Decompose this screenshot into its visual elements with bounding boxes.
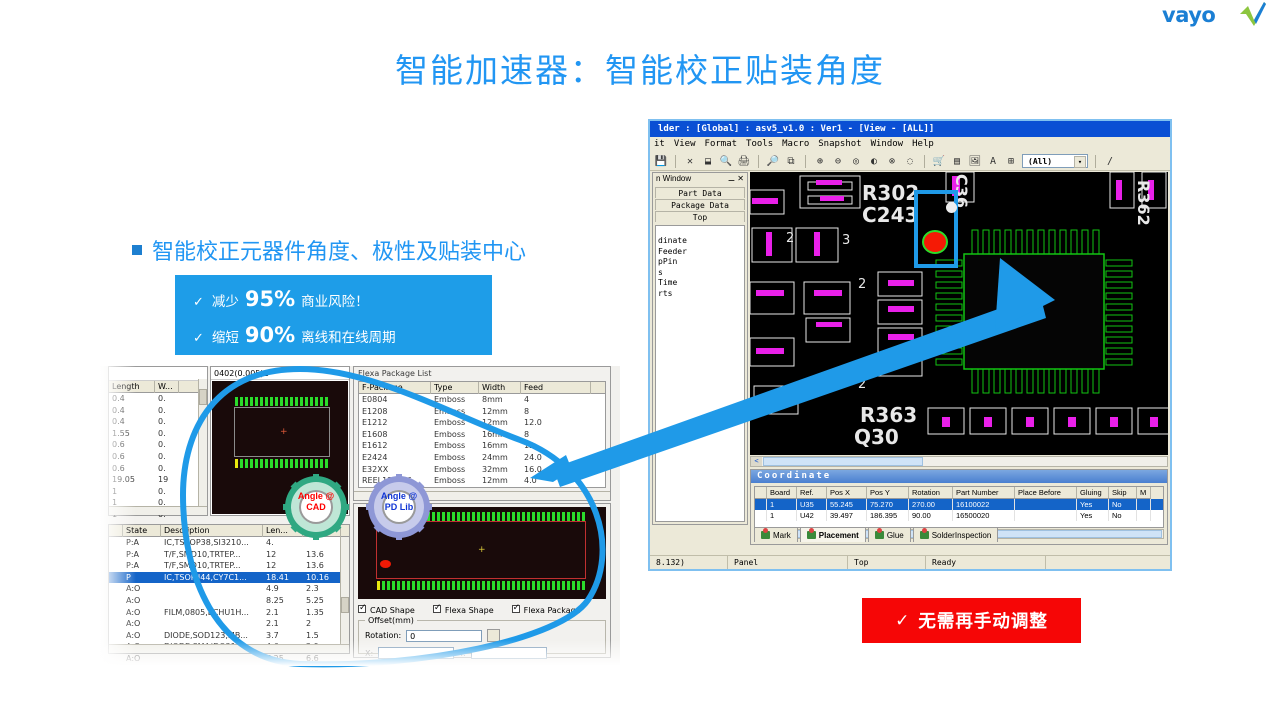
col-feed[interactable]: Feed — [521, 382, 591, 394]
check-icon: ✓ — [193, 331, 204, 346]
brand-name: vayo — [1162, 3, 1215, 27]
coordinate-col-header[interactable]: Ref. — [797, 487, 827, 499]
close-icon[interactable]: ✕ — [737, 174, 744, 183]
component-pin — [522, 512, 525, 521]
table-cell: Paper — [431, 487, 479, 488]
component-pin — [497, 512, 500, 521]
table-cell: 32mm — [479, 464, 521, 476]
tab-part-data[interactable]: Part Data — [655, 187, 745, 198]
component-pin — [235, 459, 238, 468]
table-cell: 90.00 — [909, 510, 953, 521]
shape-checkbox-row: CAD Shape Flexa Shape Flexa Package — [358, 603, 606, 617]
table-row[interactable]: A:O2.12 — [109, 618, 349, 630]
table-row[interactable]: E2424Emboss24mm24.0 — [359, 452, 605, 464]
table-cell: T/F,SMD10,TRTEP... — [161, 549, 263, 561]
table-cell: T/F,SMD10,TRTEP... — [161, 560, 263, 572]
coordinate-tabs: MarkPlacementGlueSolderInspection — [754, 527, 998, 542]
component-pin — [457, 512, 460, 521]
component-pin — [325, 397, 328, 406]
table-cell: 4.9 — [263, 583, 303, 595]
table-cell: 0. — [155, 463, 179, 475]
coordinate-col-header[interactable]: M — [1137, 487, 1151, 499]
zoom-out-icon[interactable]: ⊖ — [831, 154, 845, 168]
table-cell: 12.0 — [521, 417, 591, 429]
component-pin — [527, 581, 530, 590]
placement-icon[interactable]: 🛒 — [932, 154, 946, 168]
scroll-left-icon[interactable]: < — [751, 457, 762, 466]
coordinate-panel: Coordinate BoardRef.Pos XPos YRotationPa… — [750, 469, 1168, 545]
panel-title: n Window — [656, 173, 691, 185]
tree-item[interactable]: Time — [658, 278, 744, 289]
panel-buttons[interactable]: ⚊ ✕ — [728, 173, 744, 185]
stats-box: ✓ 减少 95% 商业风险！ ✓ 缩短 90% 离线和在线周期 — [175, 275, 492, 355]
table-cell: 24.0 — [521, 452, 591, 464]
table-cell: 19 — [155, 474, 179, 486]
find-icon[interactable]: 🔎 — [766, 154, 780, 168]
table-row[interactable]: E1212Emboss12mm12.0 — [359, 417, 605, 429]
component-pin — [567, 512, 570, 521]
checkbox-icon[interactable] — [512, 605, 520, 613]
layer-filter-combo[interactable]: (All) ▾ — [1022, 154, 1088, 168]
tree-item[interactable]: pPin — [658, 257, 744, 268]
check-icon: ✓ — [193, 295, 204, 310]
status-panel: Panel — [728, 556, 848, 569]
chevron-down-icon[interactable]: ▾ — [1074, 156, 1086, 168]
table-cell: 0. — [155, 439, 179, 451]
component-pin — [467, 581, 470, 590]
component-pin — [300, 459, 303, 468]
table-cell: E1608 — [359, 429, 431, 441]
component-pin — [265, 459, 268, 468]
component-pin — [572, 581, 575, 590]
component-pin — [552, 581, 555, 590]
component-pin — [517, 512, 520, 521]
menu-item-tools[interactable]: Tools — [746, 137, 773, 152]
right-screenshot: lder : [Global] : asv5_v1.0 : Ver1 - [Vi… — [648, 119, 1172, 571]
table-row[interactable]: 1U3555.24575.270270.0016100022YesNo — [755, 499, 1163, 510]
flexa-table-header: F-Package Type Width Feed — [359, 382, 605, 394]
table-cell: 13.6 — [303, 549, 341, 561]
component-pin — [280, 459, 283, 468]
tab-label: Mark — [773, 528, 791, 543]
reference-dot-icon — [946, 202, 957, 213]
table-cell: Emboss — [431, 394, 479, 406]
component-pin — [382, 581, 385, 590]
component-pin — [427, 581, 430, 590]
component-pin — [507, 512, 510, 521]
window-titlebar: lder : [Global] : asv5_v1.0 : Ver1 - [Vi… — [650, 121, 1170, 137]
print-preview-icon[interactable]: 🔍 — [719, 154, 733, 168]
gear-label-line2: PD Lib — [366, 502, 432, 513]
tree-item[interactable]: s — [658, 268, 744, 279]
copy-icon[interactable]: ⧉ — [784, 154, 798, 168]
component-pin — [417, 581, 420, 590]
line-tool-icon: / — [1103, 154, 1117, 168]
table-cell: 8 — [521, 406, 591, 418]
component-pin — [300, 397, 303, 406]
col-fpackage[interactable]: F-Package — [359, 382, 431, 394]
component-pin — [582, 581, 585, 590]
checkbox-label: Flexa Package — [524, 606, 581, 615]
table-cell: 1 — [767, 499, 797, 510]
status-ready: Ready — [926, 556, 1046, 569]
component-pin — [270, 397, 273, 406]
component-pin — [320, 459, 323, 468]
component-pin — [472, 581, 475, 590]
table-cell — [161, 583, 263, 595]
table-row[interactable]: PIC,TSOPII44,CY7C1...18.4110.16 — [109, 572, 349, 584]
close-icon[interactable]: ✕ — [683, 154, 697, 168]
table-row[interactable]: E0804Emboss8mm4 — [359, 394, 605, 406]
toolbar-separator — [1095, 155, 1096, 168]
table-row[interactable]: A:O4.92.3 — [109, 583, 349, 595]
scroll-thumb[interactable] — [199, 389, 207, 405]
component-pin — [497, 581, 500, 590]
component-pin — [542, 581, 545, 590]
component-pin — [285, 459, 288, 468]
table-cell: Emboss — [431, 406, 479, 418]
tab-mark[interactable]: Mark — [754, 527, 798, 542]
table-cell: 75.270 — [867, 499, 909, 510]
table-row[interactable]: A:OFILM,0805,ECHU1H...2.11.35 — [109, 607, 349, 619]
component-pin — [412, 581, 415, 590]
menu-item-help[interactable]: Help — [912, 137, 934, 152]
tree-item[interactable]: dinate — [658, 236, 744, 247]
tab-label: Glue — [887, 528, 904, 543]
component-pin — [255, 397, 258, 406]
table-row[interactable]: E1612Emboss16mm12 — [359, 440, 605, 452]
component-pin — [527, 512, 530, 521]
checkbox-cad-shape[interactable]: CAD Shape — [358, 605, 415, 615]
check-icon: ✓ — [895, 611, 909, 631]
table-cell: E1612 — [359, 440, 431, 452]
component-pin — [315, 459, 318, 468]
gear-label-line2: CAD — [283, 502, 349, 513]
table-cell: 2 — [303, 618, 341, 630]
square-bullet-icon — [132, 245, 142, 255]
col-description[interactable]: Description — [161, 525, 263, 537]
grid-icon[interactable]: ⊞ — [1004, 154, 1018, 168]
component-pin — [437, 581, 440, 590]
component-icon — [920, 531, 929, 539]
status-coordinate: 8.132) — [650, 556, 728, 569]
pcb-horizontal-scrollbar[interactable]: < — [750, 456, 1168, 467]
component-pin — [537, 581, 540, 590]
layer-filter-value: (All) — [1028, 157, 1052, 166]
table-cell: U35 — [797, 499, 827, 510]
component-pin — [432, 581, 435, 590]
stat-value: 95% — [245, 287, 295, 311]
component-pin — [275, 397, 278, 406]
table-cell: 5.25 — [303, 595, 341, 607]
component-pin — [305, 397, 308, 406]
component-pin — [290, 397, 293, 406]
svg-text:R362: R362 — [1134, 180, 1153, 226]
tab-solderinspection[interactable]: SolderInspection — [913, 527, 999, 542]
component-pin — [270, 459, 273, 468]
download-icon[interactable]: ⬓ — [701, 154, 715, 168]
component-pin — [397, 581, 400, 590]
coordinate-table: BoardRef.Pos XPos YRotationPart NumberPl… — [754, 486, 1164, 528]
svg-text:2: 2 — [858, 277, 866, 292]
checkbox-label: CAD Shape — [370, 606, 415, 615]
zoom-window-icon[interactable]: ◎ — [849, 154, 863, 168]
component-pin — [442, 512, 445, 521]
row-marker — [755, 499, 767, 510]
component-pin — [577, 581, 580, 590]
checkbox-flexa-package[interactable]: Flexa Package — [512, 605, 581, 615]
pcb-artwork: R302 C243 R363 Q30 232 2 — [750, 172, 1168, 455]
component-pin — [467, 512, 470, 521]
component-pin — [245, 459, 248, 468]
component-pin — [487, 512, 490, 521]
table-row[interactable]: A:O8.255.25 — [109, 595, 349, 607]
table-cell — [1137, 510, 1151, 521]
stat-value: 90% — [245, 323, 295, 347]
component-pin — [577, 512, 580, 521]
menu-item-snapshot[interactable]: Snapshot — [818, 137, 861, 152]
checkbox-icon[interactable] — [358, 605, 366, 613]
pin1-marker-icon — [922, 230, 948, 254]
toolbar: 💾 ✕ ⬓ 🔍 🖨 🔎 ⧉ ⊕ ⊖ ◎ ◐ ⊗ ◌ 🛒 ▤ 🖼 A ⊞ (All… — [650, 152, 1170, 171]
menu-bar: it View Format Tools Macro Snapshot Wind… — [650, 137, 1170, 152]
table-row[interactable]: P:AT/F,SMD10,TRTEP...1213.6 — [109, 560, 349, 572]
coordinate-col-header[interactable]: Pos Y — [867, 487, 909, 499]
lines-icon: ▤ — [950, 154, 964, 168]
table-cell: Emboss — [431, 417, 479, 429]
menu-item-format[interactable]: Format — [705, 137, 738, 152]
table-cell: 8mm — [479, 487, 521, 488]
bullet-heading: 智能校正元器件角度、极性及贴装中心 — [132, 234, 526, 266]
component-pin — [532, 581, 535, 590]
zoom-previous-icon[interactable]: ◐ — [867, 154, 881, 168]
component-pin — [562, 581, 565, 590]
pin-icon[interactable]: ⚊ — [728, 174, 735, 183]
component-pin — [457, 581, 460, 590]
table-cell: 16mm — [479, 440, 521, 452]
table-row[interactable]: E1608Emboss16mm8 — [359, 429, 605, 441]
component-pin — [387, 581, 390, 590]
save-icon[interactable]: 💾 — [654, 154, 668, 168]
tab-placement[interactable]: Placement — [800, 527, 866, 542]
origin-cross-icon: + — [478, 547, 486, 553]
page-title: 智能加速器：智能校正贴装角度 — [0, 44, 1280, 92]
component-icon — [807, 531, 816, 539]
table-cell — [1015, 499, 1077, 510]
table-cell: 18.41 — [263, 572, 303, 584]
table-cell: 16.0 — [521, 464, 591, 476]
component-pin — [582, 512, 585, 521]
component-pin — [295, 459, 298, 468]
vertical-scrollbar[interactable] — [340, 537, 349, 644]
table-cell: Emboss — [431, 429, 479, 441]
component-pin — [320, 397, 323, 406]
pin-row-top — [235, 397, 328, 406]
coordinate-col-header[interactable]: Rotation — [909, 487, 953, 499]
table-cell: 8mm — [479, 394, 521, 406]
table-cell: U42 — [797, 510, 827, 521]
component-pin — [432, 512, 435, 521]
gear-label-line1: Angle @ — [366, 491, 432, 502]
component-pin — [325, 459, 328, 468]
table-cell: IC,TSOPII44,CY7C1... — [161, 572, 263, 584]
table-cell: E2424 — [359, 452, 431, 464]
table-cell: 0. — [155, 393, 179, 405]
preview-caption: 0402(0.005)1 — [211, 367, 349, 380]
table-cell: 1 — [767, 510, 797, 521]
component-pin — [447, 581, 450, 590]
component-icon — [761, 531, 770, 539]
table-row[interactable]: E1208Emboss12mm8 — [359, 406, 605, 418]
component-pin — [260, 459, 263, 468]
component-pin — [567, 581, 570, 590]
left-screenshot: Length W... 0.40.0.40.0.40.1.550.0.60.0.… — [100, 366, 620, 666]
panel-caption: n Window ⚊ ✕ — [653, 173, 747, 185]
menu-item-edit[interactable]: it — [654, 137, 665, 152]
coordinate-col-header[interactable]: Gluing — [1077, 487, 1109, 499]
checkbox-icon[interactable] — [433, 605, 441, 613]
component-pin — [265, 397, 268, 406]
component-pin — [290, 459, 293, 468]
component-pin — [492, 581, 495, 590]
table-cell: 10.16 — [303, 572, 341, 584]
tree-item[interactable]: Feeder — [658, 247, 744, 258]
table-cell: 16100022 — [953, 499, 1015, 510]
component-pin — [305, 459, 308, 468]
coordinate-col-header[interactable]: Pos X — [827, 487, 867, 499]
col-type[interactable]: Type — [431, 382, 479, 394]
status-side: Top — [848, 556, 926, 569]
component-pin — [310, 397, 313, 406]
scroll-thumb[interactable] — [763, 457, 923, 466]
table-cell — [161, 618, 263, 630]
offset-group-title: Offset(mm) — [365, 616, 417, 625]
component-pin — [407, 581, 410, 590]
scroll-thumb[interactable] — [341, 597, 349, 613]
tab-glue[interactable]: Glue — [868, 527, 911, 542]
component-pin — [280, 397, 283, 406]
table-cell: 39.497 — [827, 510, 867, 521]
tab-package-data[interactable]: Package Data — [655, 199, 745, 210]
component-pin — [542, 512, 545, 521]
rotation-label: Rotation: — [365, 631, 401, 640]
table-cell: 0. — [155, 405, 179, 417]
zoom-in-icon[interactable]: ⊕ — [813, 154, 827, 168]
table-cell: 12 — [263, 560, 303, 572]
panel-tabs: Part Data Package Data Top — [655, 186, 745, 222]
toolbar-separator — [924, 155, 925, 168]
col-width[interactable]: Width — [479, 382, 521, 394]
main-window-panel: n Window ⚊ ✕ Part Data Package Data Top … — [652, 172, 748, 525]
component-pin — [250, 397, 253, 406]
parts-state-table-panel: State Description Len... P:AIC,TSSOP38,S… — [108, 524, 350, 654]
svg-text:2: 2 — [786, 231, 794, 246]
component-pin — [442, 581, 445, 590]
print-icon[interactable]: 🖨 — [737, 154, 751, 168]
stat-suffix: 离线和在线周期 — [301, 326, 396, 346]
component-pin — [512, 512, 515, 521]
component-pin — [250, 459, 253, 468]
tree-item[interactable]: rts — [658, 289, 744, 300]
text-icon: A — [986, 154, 1000, 168]
component-pin — [462, 581, 465, 590]
table-cell: Emboss — [431, 464, 479, 476]
coordinate-col-header[interactable]: Part Number — [953, 487, 1015, 499]
tab-top[interactable]: Top — [655, 211, 745, 222]
coordinate-col-header[interactable]: Place Before — [1015, 487, 1077, 499]
component-pin — [315, 397, 318, 406]
component-pin — [310, 459, 313, 468]
table-cell: 13.6 — [303, 560, 341, 572]
table-cell: 186.395 — [867, 510, 909, 521]
table-cell: 4.0 — [521, 475, 591, 487]
pcb-cad-canvas[interactable]: R302 C243 R363 Q30 232 2 — [750, 172, 1168, 455]
table-row[interactable]: P:AT/F,SMD10,TRTEP...1213.6 — [109, 549, 349, 561]
table-cell: No — [1109, 510, 1137, 521]
polarity-dot-icon — [380, 560, 391, 568]
component-pin — [255, 459, 258, 468]
component-pin — [487, 581, 490, 590]
fade-bottom-edge — [100, 640, 620, 666]
component-pin — [517, 581, 520, 590]
table-cell: E1208 — [359, 406, 431, 418]
coordinate-col-header[interactable]: Skip — [1109, 487, 1137, 499]
svg-text:2: 2 — [858, 377, 866, 392]
table-cell: FILM,0805,ECHU1H... — [161, 607, 263, 619]
gear-angle-pd-lib: Angle @ PD Lib — [366, 474, 432, 540]
menu-item-macro[interactable]: Macro — [782, 137, 809, 152]
table-row[interactable]: 1U4239.497186.39590.0016500020YesNo — [755, 510, 1163, 521]
table-cell: 2.3 — [303, 583, 341, 595]
table-cell: 8 — [521, 429, 591, 441]
table-cell: 0. — [155, 416, 179, 428]
coordinate-col-header[interactable]: Board — [767, 487, 797, 499]
toolbar-separator — [758, 155, 759, 168]
flexa-package-list-title: Flexa Package List — [354, 367, 610, 380]
menu-item-window[interactable]: Window — [871, 137, 904, 152]
tab-label: SolderInspection — [932, 528, 992, 543]
component-pin — [552, 512, 555, 521]
brand-mark-icon — [1240, 2, 1266, 26]
component-pin — [260, 397, 263, 406]
menu-item-view[interactable]: View — [674, 137, 696, 152]
component-pin — [285, 397, 288, 406]
component-pin — [562, 512, 565, 521]
table-cell: 12 — [263, 549, 303, 561]
coordinate-table-header: BoardRef.Pos XPos YRotationPart NumberPl… — [755, 487, 1163, 499]
table-cell: Emboss — [431, 440, 479, 452]
component-pin — [295, 397, 298, 406]
table-cell: 12 — [521, 440, 591, 452]
component-pin — [492, 512, 495, 521]
table-cell: E0804 — [359, 394, 431, 406]
table-cell: No — [1109, 499, 1137, 510]
callout-text: 无需再手动调整 — [918, 608, 1048, 633]
row-marker — [755, 510, 767, 521]
table-cell: 270.00 — [909, 499, 953, 510]
table-cell: 4 — [521, 394, 591, 406]
pin-row-bottom — [377, 581, 585, 590]
zoom-fit-icon[interactable]: ⊗ — [885, 154, 899, 168]
toolbar-separator — [805, 155, 806, 168]
col-width[interactable]: W... — [155, 381, 179, 393]
table-cell: 24mm — [479, 452, 521, 464]
vertical-scrollbar[interactable] — [198, 379, 207, 506]
svg-text:R302: R302 — [862, 181, 919, 205]
panel-tree-list[interactable]: dinateFeederpPinsTimerts — [655, 225, 745, 522]
checkbox-flexa-shape[interactable]: Flexa Shape — [433, 605, 494, 615]
stat-item: ✓ 减少 95% 商业风险！ — [193, 287, 492, 311]
